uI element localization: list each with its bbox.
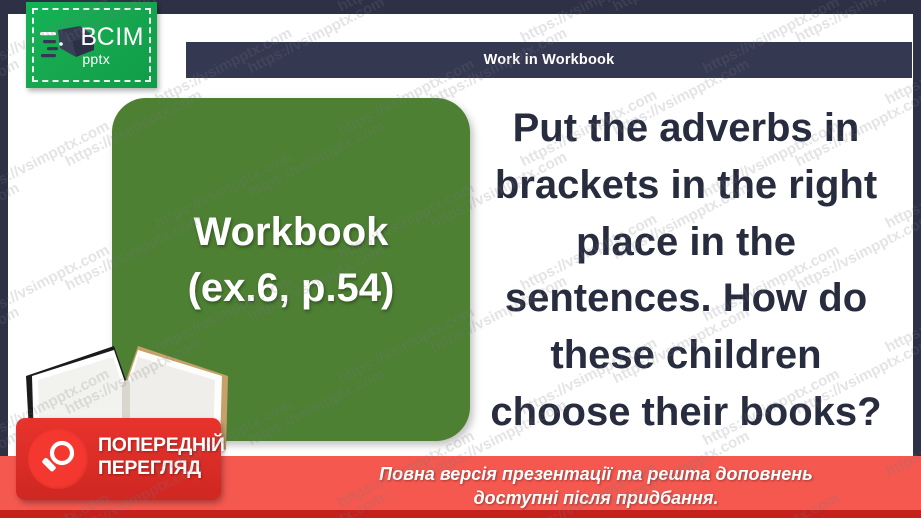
bcim-pptx-logo: ВСІМ pptx [26,2,157,88]
purchase-notice-line-2: доступні після придбання. [286,486,906,510]
preview-badge-label: ПОПЕРЕДНІЙ ПЕРЕГЛЯД [98,434,225,480]
slide-canvas: Work in Workbook ВСІМ pptx Workbook (ex.… [0,0,921,518]
purchase-notice-line-1: Повна версія презентації та решта доповн… [286,462,906,486]
preview-badge-line-2: ПЕРЕГЛЯД [98,457,225,480]
page-title: Work in Workbook [484,52,615,68]
preview-badge[interactable]: ПОПЕРЕДНІЙ ПЕРЕГЛЯД [16,418,221,500]
magnifier-icon [38,439,78,479]
graduation-cap-icon [40,24,96,68]
logo-primary-text: ВСІМ [80,25,144,50]
slide-header-bar: Work in Workbook [186,42,912,78]
workbook-card-line-2: (ex.6, p.54) [188,261,395,316]
workbook-card-line-1: Workbook [188,205,395,260]
logo-secondary-text: pptx [82,52,110,66]
task-instruction-text: Put the adverbs in brackets in the right… [486,100,886,441]
purchase-notice-text: Повна версія презентації та решта доповн… [286,462,906,511]
workbook-card-text: Workbook (ex.6, p.54) [188,205,395,333]
preview-badge-line-1: ПОПЕРЕДНІЙ [98,434,225,457]
